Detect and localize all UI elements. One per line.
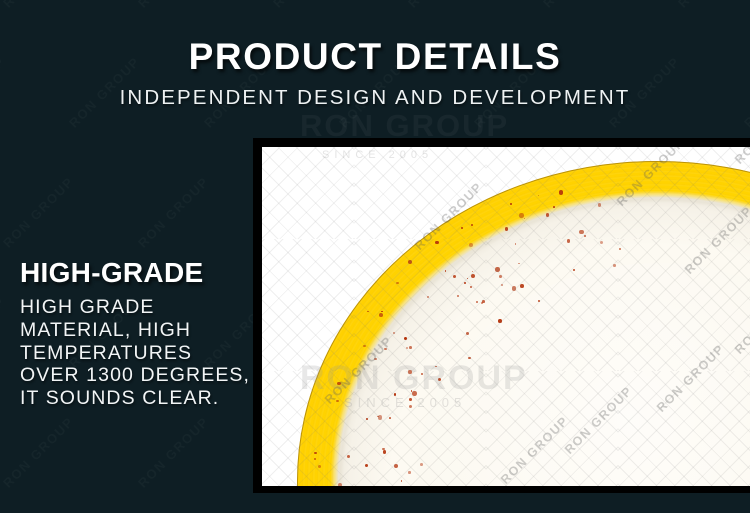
plate-speckle bbox=[567, 239, 571, 243]
plate-speckle bbox=[427, 296, 429, 298]
plate-speckle bbox=[338, 483, 343, 486]
plate-speckle bbox=[482, 300, 485, 303]
watermark-brand-top: RON GROUP bbox=[300, 108, 509, 144]
plate-speckle bbox=[546, 213, 549, 216]
plate-speckle bbox=[470, 286, 472, 288]
plate-speckle bbox=[472, 271, 473, 272]
watermark-tagline-top: SINCE 2005 bbox=[322, 149, 433, 161]
plate-speckle bbox=[524, 218, 525, 219]
product-photo: SINCE 2005 RON GROUP SINCE 2005 RON GROU… bbox=[262, 147, 750, 486]
plate-speckle bbox=[337, 382, 341, 386]
plate-speckle bbox=[613, 264, 615, 266]
feature-copy: HIGH-GRADE HIGH GRADE MATERIAL, HIGH TEM… bbox=[20, 258, 265, 409]
plate-speckle bbox=[406, 347, 408, 349]
plate-speckle bbox=[412, 391, 416, 395]
plate-speckle bbox=[408, 370, 411, 373]
plate-speckle bbox=[518, 263, 520, 265]
plate-speckle bbox=[409, 398, 412, 401]
watermark-brand-tile: RON GROUP bbox=[0, 294, 8, 371]
feature-body: HIGH GRADE MATERIAL, HIGH TEMPERATURES O… bbox=[20, 296, 265, 409]
plate-speckle bbox=[498, 319, 502, 323]
product-detail-banner: RON GROUPRON GROUPRON GROUPRON GROUPRON … bbox=[0, 0, 750, 513]
plate-speckle bbox=[495, 267, 499, 271]
plate-speckle bbox=[367, 311, 368, 312]
watermark-brand-tile: RON GROUP bbox=[0, 174, 77, 251]
watermark-brand-tile: RON GROUP bbox=[135, 414, 212, 491]
plate-speckle bbox=[378, 415, 383, 420]
plate-speckle bbox=[314, 452, 317, 455]
plate-speckle bbox=[471, 274, 475, 278]
watermark-brand-diagonal: RON GROUP bbox=[732, 147, 750, 167]
page-title: PRODUCT DETAILS bbox=[0, 38, 750, 75]
plate-speckle bbox=[469, 243, 473, 247]
feature-heading: HIGH-GRADE bbox=[20, 258, 265, 287]
plate-speckle bbox=[512, 286, 516, 290]
product-photo-frame: SINCE 2005 RON GROUP SINCE 2005 RON GROU… bbox=[253, 138, 750, 493]
plate-speckle bbox=[476, 301, 478, 303]
plate-speckle bbox=[579, 230, 583, 234]
plate-speckle bbox=[520, 284, 524, 288]
watermark-brand-tile: RON GROUP bbox=[0, 414, 77, 491]
plate-speckle bbox=[389, 417, 391, 419]
plate-speckle bbox=[394, 393, 396, 395]
plate-graphic bbox=[297, 161, 750, 486]
plate-speckle bbox=[471, 224, 473, 226]
plate-speckle bbox=[379, 313, 383, 317]
watermark-brand-tile: RON GROUP bbox=[135, 174, 212, 251]
plate-speckle bbox=[553, 206, 555, 208]
plate-speckle bbox=[409, 346, 412, 349]
plate-speckle bbox=[347, 455, 350, 458]
plate-speckle bbox=[468, 357, 470, 359]
plate-speckle bbox=[559, 190, 563, 194]
header: PRODUCT DETAILS INDEPENDENT DESIGN AND D… bbox=[0, 0, 750, 109]
plate-speckle bbox=[374, 358, 376, 360]
plate-speckle bbox=[396, 282, 398, 284]
plate-speckle bbox=[408, 471, 410, 473]
page-subtitle: INDEPENDENT DESIGN AND DEVELOPMENT bbox=[0, 88, 750, 109]
plate-speckle bbox=[411, 390, 412, 391]
plate-speckle bbox=[499, 275, 502, 278]
plate-speckle bbox=[420, 463, 423, 466]
plate-speckle bbox=[519, 213, 523, 217]
